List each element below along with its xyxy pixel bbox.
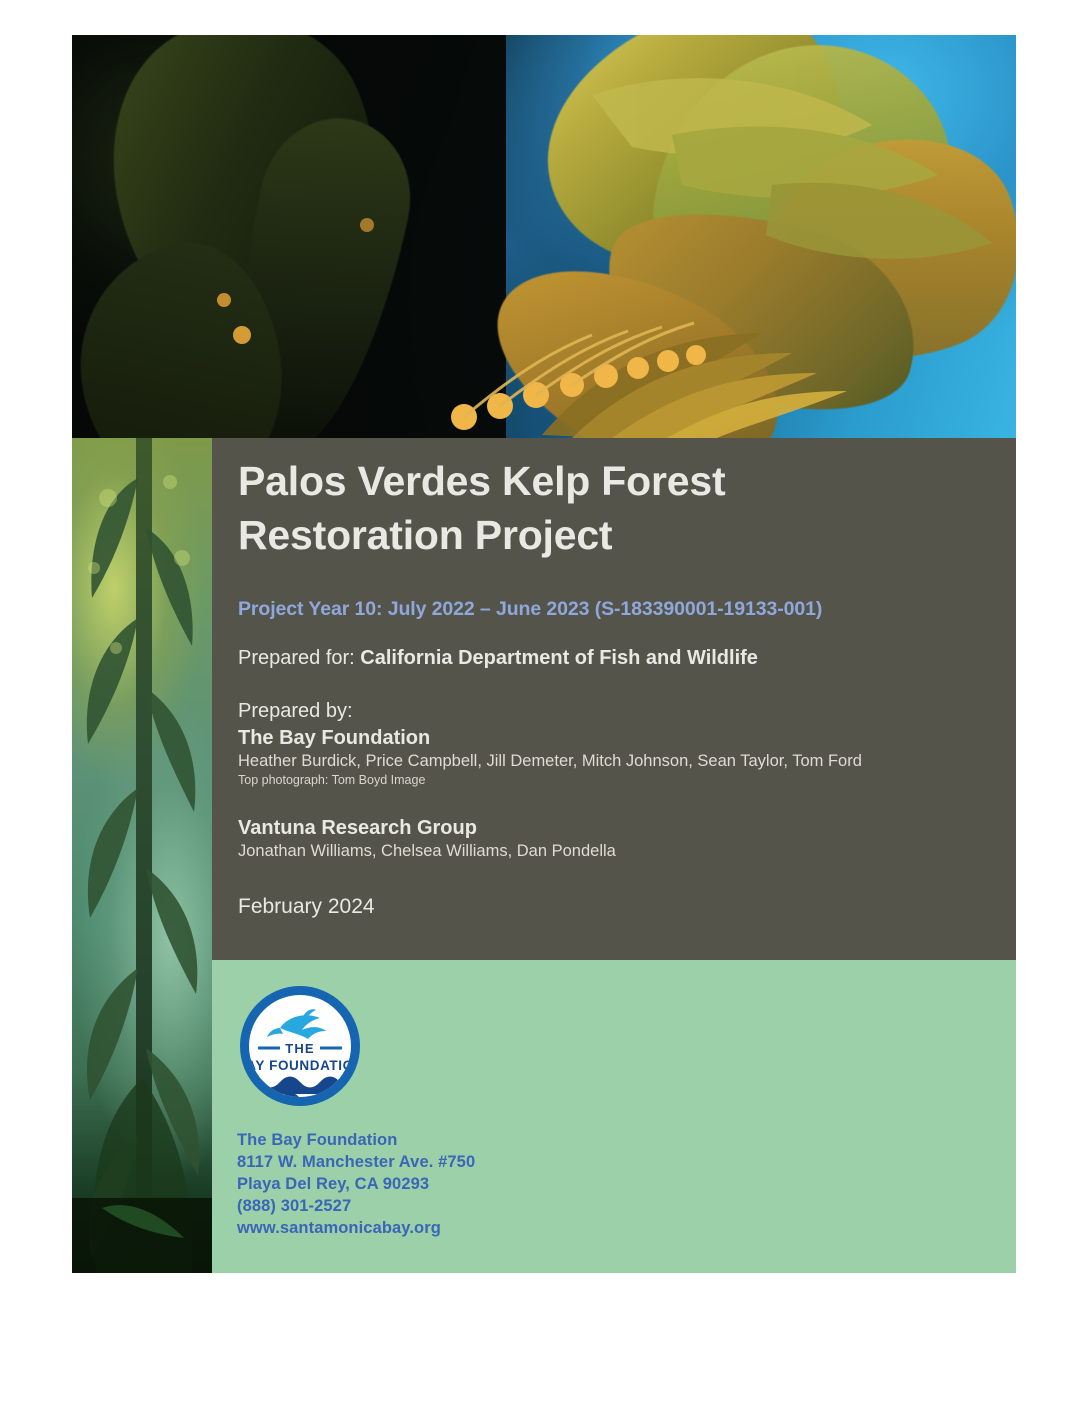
publication-date: February 2024: [238, 895, 998, 919]
contact-website[interactable]: www.santamonicabay.org: [237, 1218, 475, 1240]
kelp-frond-overlay: [72, 35, 1016, 438]
org-name: The Bay Foundation: [238, 727, 998, 750]
page-title: Palos Verdes Kelp Forest Restoration Pro…: [238, 454, 998, 562]
org-authors: Jonathan Williams, Chelsea Williams, Dan…: [238, 842, 998, 861]
contact-address-2: Playa Del Rey, CA 90293: [237, 1174, 475, 1196]
prepared-for-value: California Department of Fish and Wildli…: [360, 647, 758, 669]
project-year-subtitle: Project Year 10: July 2022 – June 2023 (…: [238, 598, 998, 621]
contact-phone[interactable]: (888) 301-2527: [237, 1196, 475, 1218]
hero-kelp-photo: [72, 35, 1016, 438]
contact-address-1: 8117 W. Manchester Ave. #750: [237, 1152, 475, 1174]
contact-org: The Bay Foundation: [237, 1130, 475, 1152]
org-block-vantuna: Vantuna Research Group Jonathan Williams…: [238, 817, 998, 861]
org-name: Vantuna Research Group: [238, 817, 998, 840]
title-panel: Palos Verdes Kelp Forest Restoration Pro…: [212, 438, 1016, 960]
title-line-2: Restoration Project: [238, 512, 612, 558]
photo-credit: Top photograph: Tom Boyd Image: [238, 773, 998, 787]
title-line-1: Palos Verdes Kelp Forest: [238, 458, 725, 504]
logo-top-text: THE: [285, 1041, 315, 1056]
org-authors: Heather Burdick, Price Campbell, Jill De…: [238, 752, 998, 771]
prepared-by-label: Prepared by:: [238, 700, 998, 723]
sidebar-frond-overlay: [72, 438, 212, 1273]
cover-page: Palos Verdes Kelp Forest Restoration Pro…: [0, 0, 1088, 1408]
bay-foundation-logo: THE BAY FOUNDATION: [236, 982, 364, 1110]
sidebar-kelp-photo: [72, 438, 212, 1273]
footer-green-block: THE BAY FOUNDATION The Bay Foundation 81…: [212, 960, 1016, 1273]
contact-block: The Bay Foundation 8117 W. Manchester Av…: [237, 1130, 475, 1240]
org-block-bay-foundation: The Bay Foundation Heather Burdick, Pric…: [238, 727, 998, 787]
prepared-for-line: Prepared for: California Department of F…: [238, 647, 998, 670]
logo-icon: THE BAY FOUNDATION: [236, 982, 364, 1110]
prepared-for-label: Prepared for:: [238, 647, 360, 669]
